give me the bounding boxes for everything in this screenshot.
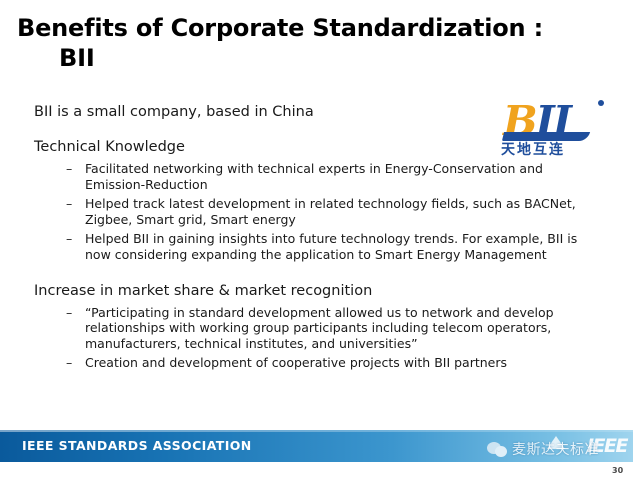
page-number: 30 [612,466,623,475]
bullet-list-technical-knowledge: – Facilitated networking with technical … [0,161,640,263]
list-item: – Creation and development of cooperativ… [0,355,640,371]
wechat-watermark: 麦斯达夫标准 [487,440,637,462]
bii-logo-swoosh-icon [502,132,590,141]
bii-logo-chinese-name: 天地互连 [501,142,565,158]
watermark-text: 麦斯达夫标准 [512,440,599,460]
list-item-text: Helped BII in gaining insights into futu… [85,231,577,262]
bii-logo-dot-icon [598,100,604,106]
footer-title: IEEE STANDARDS ASSOCIATION [22,438,252,453]
page-title-line-2: BII [17,43,617,73]
bullet-dash-icon: – [66,355,72,371]
wechat-icon [487,442,509,459]
bullet-dash-icon: – [66,161,72,177]
list-item-text: Facilitated networking with technical ex… [85,161,543,192]
bii-logo: BII 天地互连 [497,99,622,161]
bullet-list-market-share: – “Participating in standard development… [0,305,640,371]
list-item: – Helped BII in gaining insights into fu… [0,231,640,262]
bullet-dash-icon: – [66,305,72,321]
bullet-dash-icon: – [66,231,72,247]
list-item: – Facilitated networking with technical … [0,161,640,192]
list-item: – “Participating in standard development… [0,305,640,352]
bullet-dash-icon: – [66,196,72,212]
page-title-line-1: Benefits of Corporate Standardization : [17,14,543,42]
footer-bar-highlight [0,430,633,432]
list-item-text: Helped track latest development in relat… [85,196,576,227]
list-item: – Helped track latest development in rel… [0,196,640,227]
list-item-text: “Participating in standard development a… [85,305,554,351]
list-item-text: Creation and development of cooperative … [85,355,507,370]
page-title: Benefits of Corporate Standardization : … [17,13,617,73]
section-heading-market-share: Increase in market share & market recogn… [0,282,640,301]
wechat-bubble-front [495,446,507,457]
